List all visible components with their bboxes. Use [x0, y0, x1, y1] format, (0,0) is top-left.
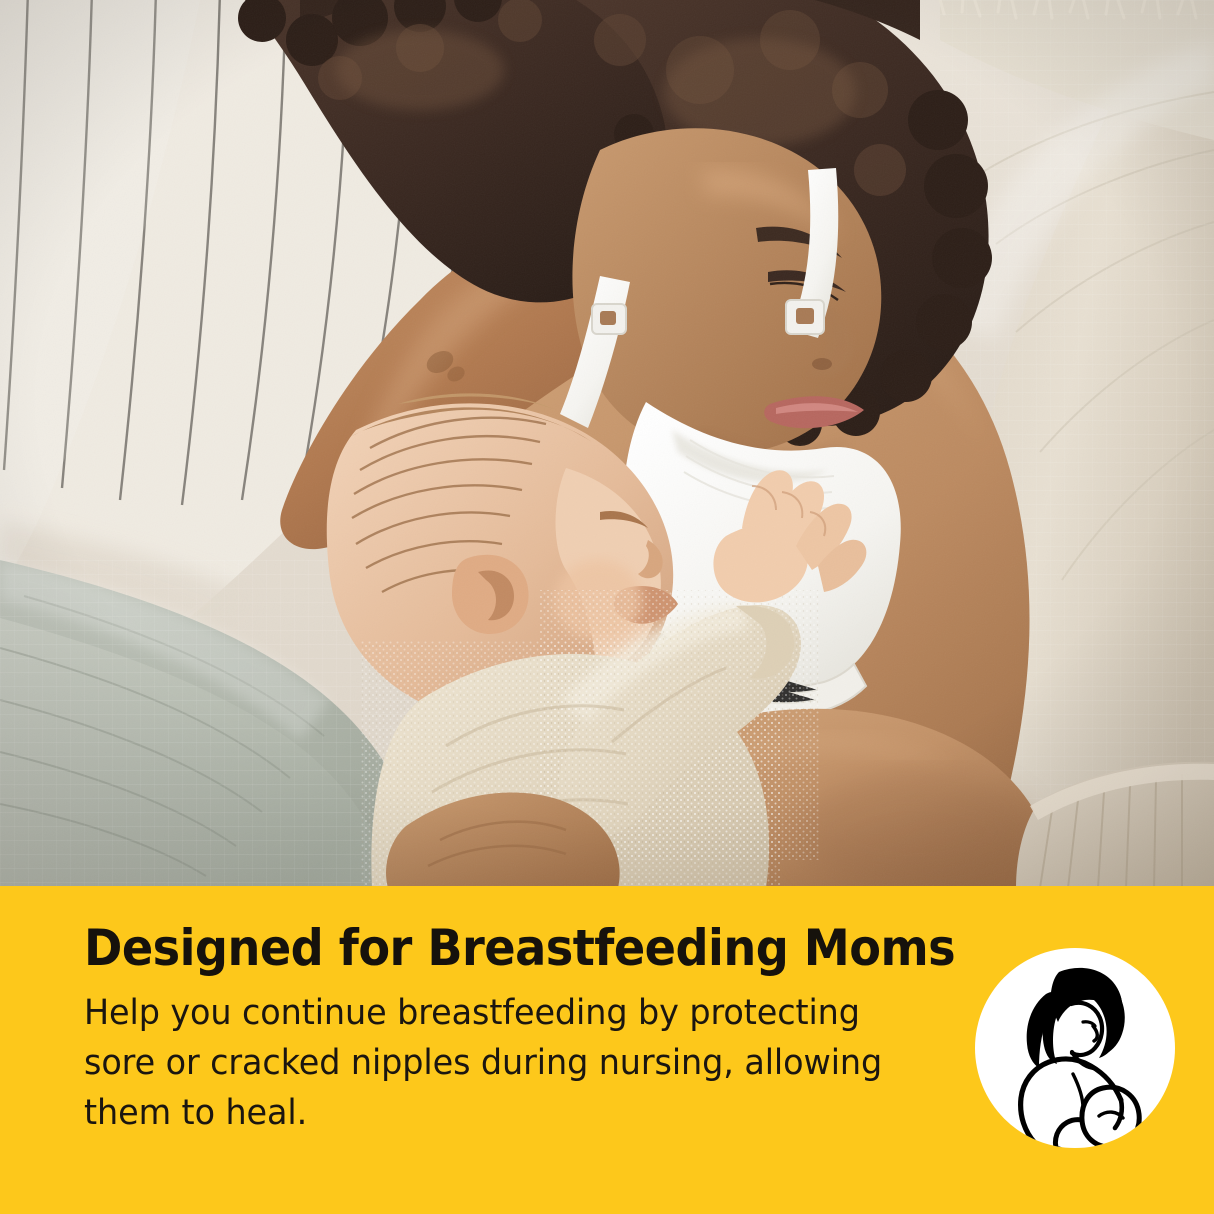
caption-bar: Designed for Breastfeeding Moms Help you…	[0, 886, 1214, 1214]
page-title: Designed for Breastfeeding Moms	[84, 922, 898, 974]
caption-body: Help you continue breastfeeding by prote…	[84, 988, 924, 1138]
caption-body-line: sore or cracked nipples during nursing, …	[84, 1038, 924, 1088]
caption-body-line: Help you continue breastfeeding by prote…	[84, 988, 924, 1038]
caption-text-block: Designed for Breastfeeding Moms Help you…	[84, 922, 964, 1138]
caption-body-line: them to heal.	[84, 1088, 924, 1138]
mother-nursing-baby-badge	[975, 948, 1175, 1148]
marketing-banner: Designed for Breastfeeding Moms Help you…	[0, 0, 1214, 1214]
lifestyle-photo	[0, 0, 1214, 888]
mother-nursing-baby-icon	[975, 948, 1175, 1148]
